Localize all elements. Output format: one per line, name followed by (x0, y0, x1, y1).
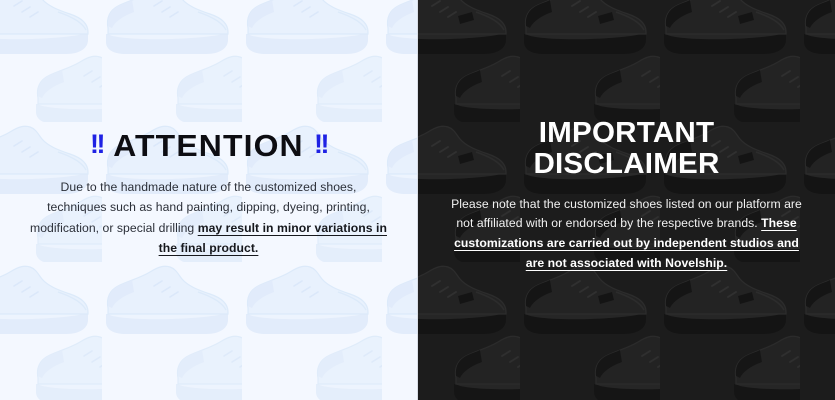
disclaimer-content: IMPORTANT DISCLAIMER Please note that th… (418, 118, 835, 274)
attention-body: Due to the handmade nature of the custom… (30, 177, 387, 259)
attention-heading: !! ATTENTION !! (30, 130, 387, 161)
disclaimer-body: Please note that the customized shoes li… (450, 195, 803, 274)
attention-title: ATTENTION (113, 130, 304, 161)
attention-content: !! ATTENTION !! Due to the handmade natu… (0, 130, 417, 259)
exclamation-left-icon: !! (90, 131, 103, 158)
disclaimer-heading: IMPORTANT DISCLAIMER (446, 118, 806, 179)
exclamation-right-icon: !! (314, 131, 327, 158)
attention-panel: !! ATTENTION !! Due to the handmade natu… (0, 0, 417, 400)
disclaimer-heading-line-2: DISCLAIMER (446, 149, 806, 180)
customization-notice-banner: !! ATTENTION !! Due to the handmade natu… (0, 0, 835, 400)
disclaimer-heading-line-1: IMPORTANT (446, 118, 806, 149)
disclaimer-panel: IMPORTANT DISCLAIMER Please note that th… (417, 0, 835, 400)
disclaimer-body-normal: Please note that the customized shoes li… (451, 197, 802, 231)
